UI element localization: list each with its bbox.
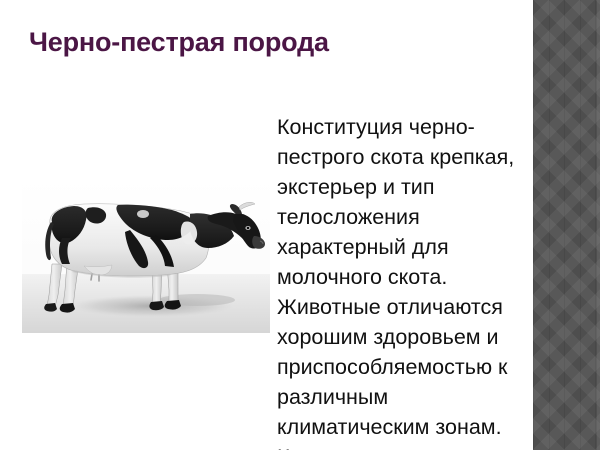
slide-title: Черно-пестрая порода	[29, 25, 509, 59]
diamond-pattern-band	[533, 0, 600, 450]
cow-figure	[22, 178, 270, 333]
cow-photo	[22, 178, 270, 333]
cow-photo-graphic	[22, 178, 270, 333]
slide-canvas: Черно-пестрая порода	[0, 0, 600, 450]
body-paragraph: Конституция черно-пестрого скота крепкая…	[277, 112, 515, 450]
